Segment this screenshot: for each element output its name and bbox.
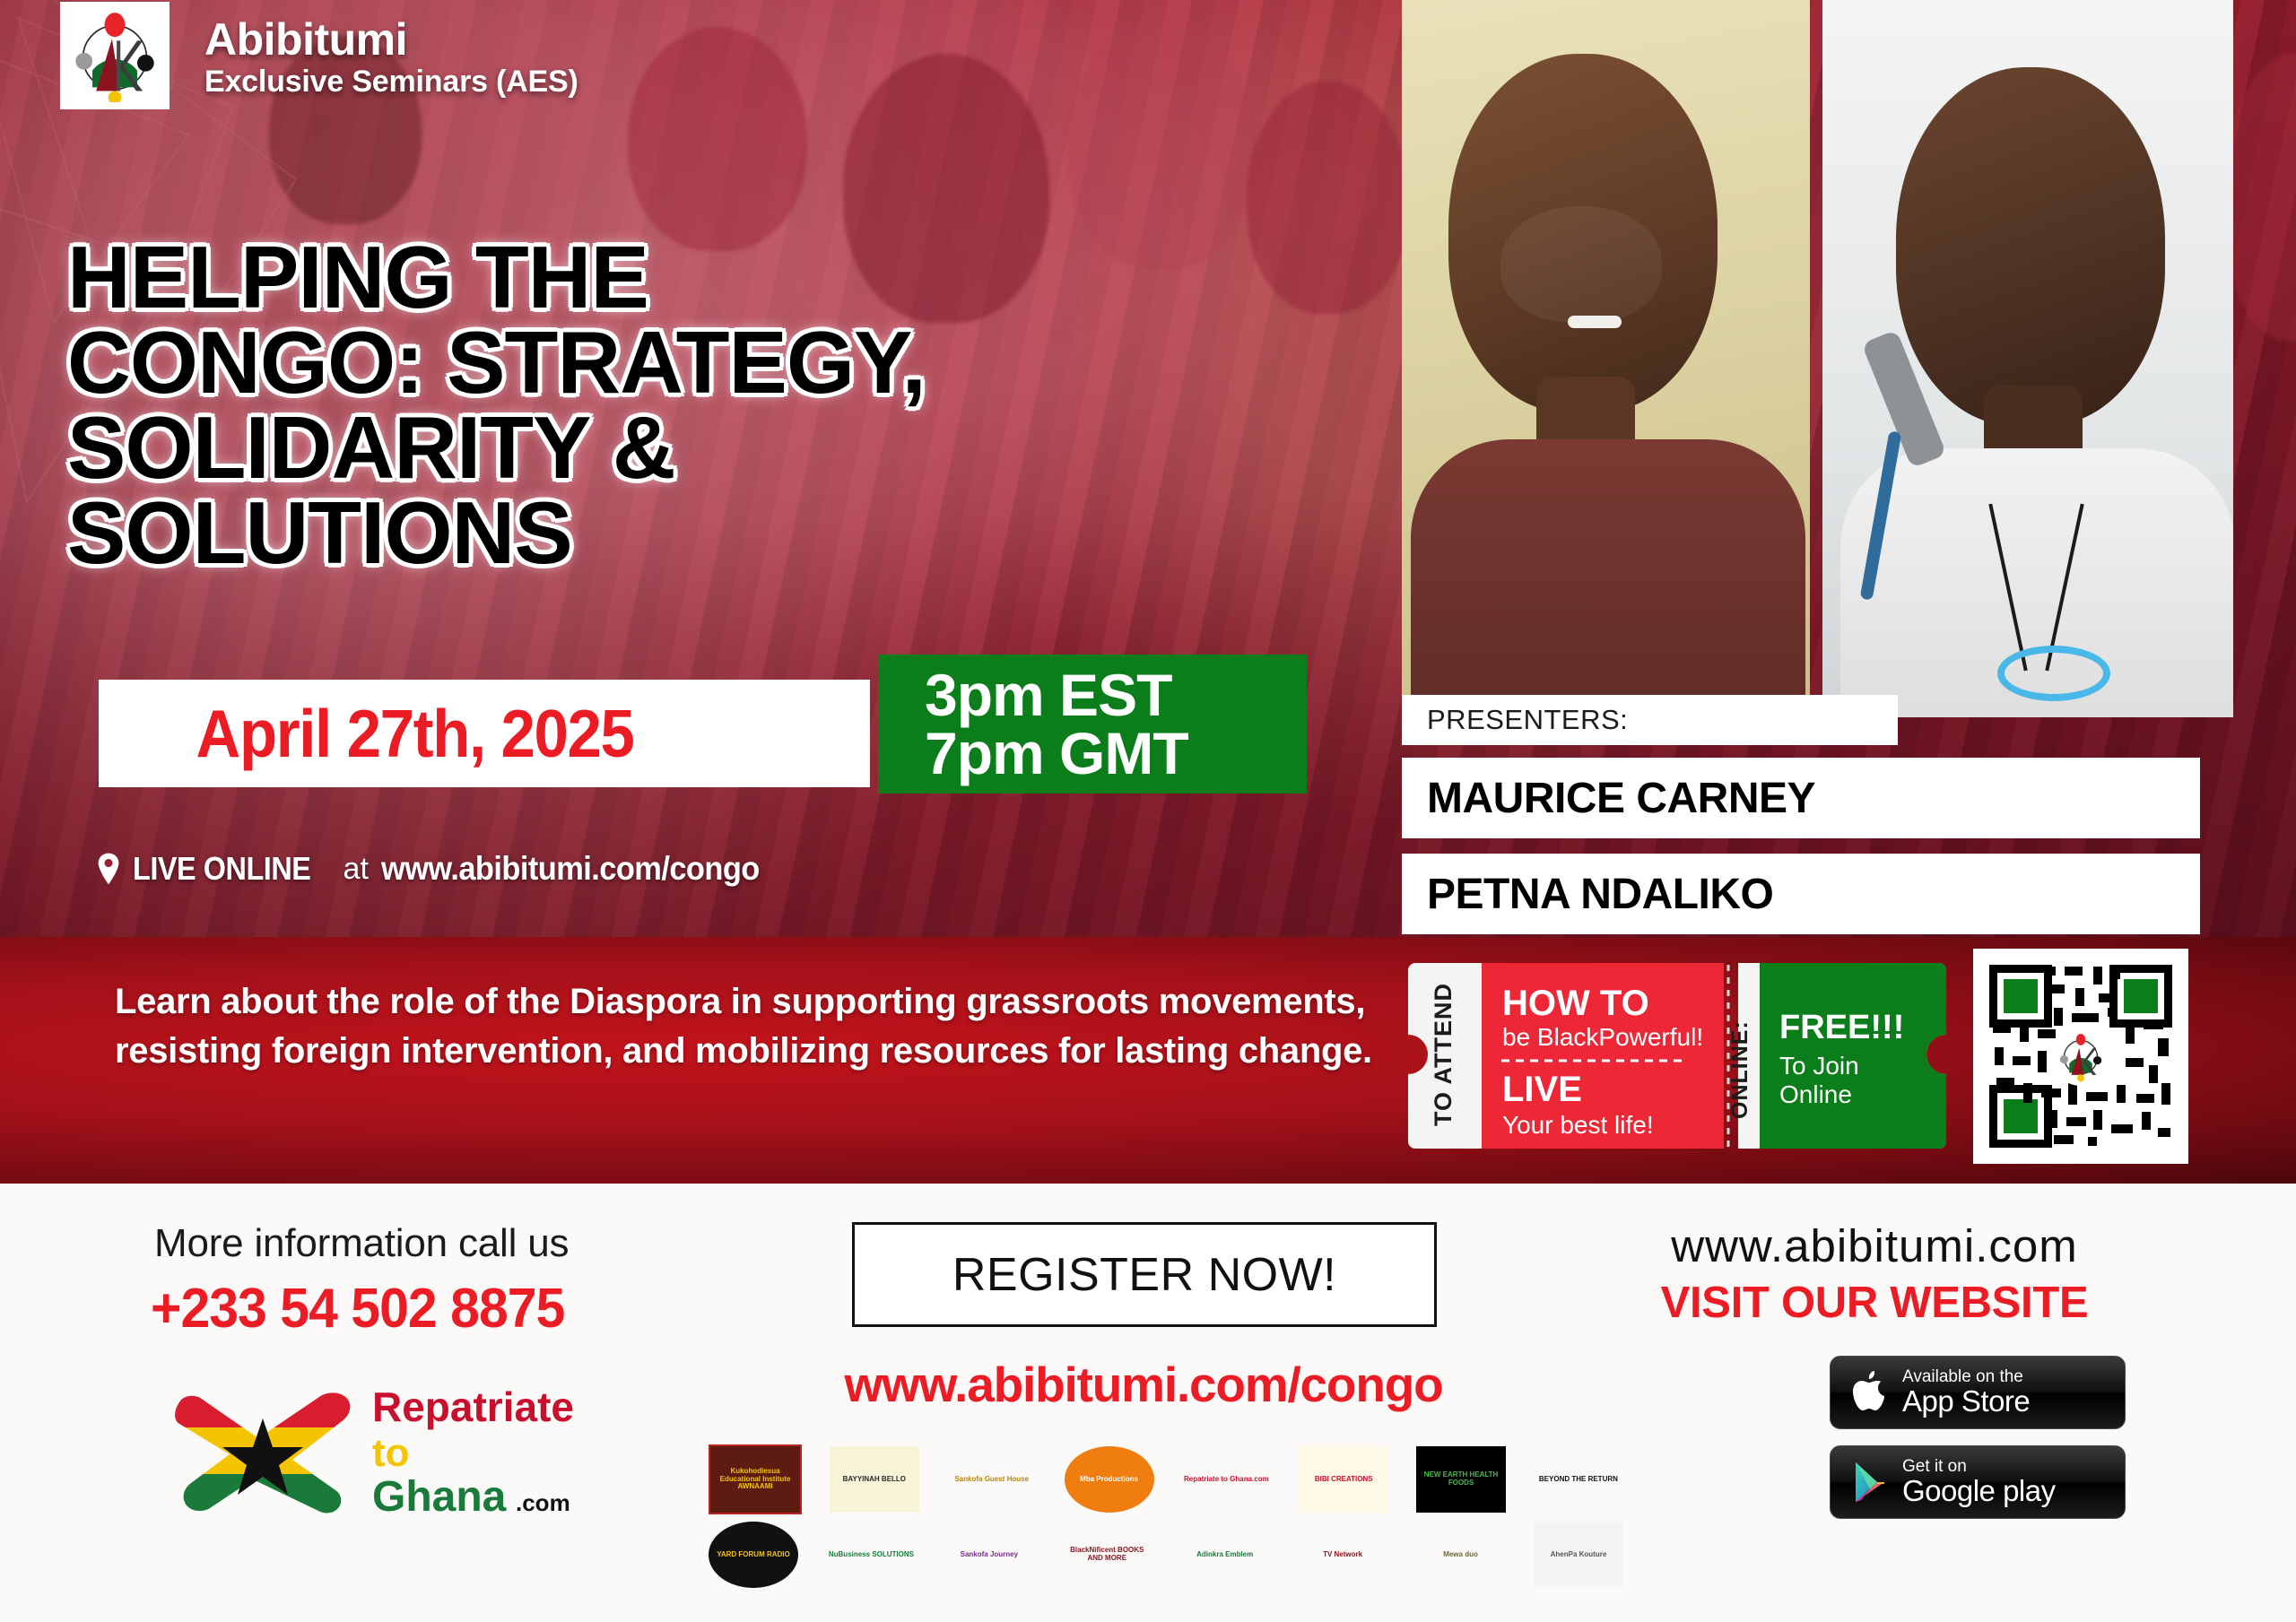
- sponsor-name: Sankofa Guest House: [954, 1476, 1029, 1484]
- qr-code-block[interactable]: [1973, 949, 2188, 1164]
- event-time-est: 3pm EST: [925, 666, 1307, 724]
- sponsor-row: YARD FORUM RADIO NuBusiness SOLUTIONS Sa…: [709, 1517, 1623, 1592]
- sponsor-logo-grid: Kukohodiesua Educational Institute AWNAA…: [709, 1442, 1623, 1592]
- sponsor-name: NuBusiness SOLUTIONS: [829, 1551, 914, 1559]
- svg-text:.com: .com: [516, 1489, 570, 1516]
- sponsor-name: Mewa duo: [1443, 1551, 1478, 1559]
- app-store-badge-big: App Store: [1902, 1386, 2030, 1418]
- svg-text:TO ATTEND: TO ATTEND: [1430, 983, 1457, 1126]
- headline-line-4: SOLUTIONS: [67, 490, 1251, 576]
- qr-center-logo: [2051, 1027, 2110, 1086]
- qr-eye: [1989, 965, 2052, 1028]
- sponsor-logo: YARD FORUM RADIO: [709, 1522, 798, 1588]
- headline-line-3: SOLIDARITY &: [67, 405, 1251, 490]
- live-online-label: LIVE ONLINE: [133, 850, 310, 888]
- sponsor-name: YARD FORUM RADIO: [717, 1551, 789, 1559]
- visit-website-label: VISIT OUR WEBSITE: [1587, 1278, 2161, 1328]
- sponsor-logo: NEW EARTH HEALTH FOODS: [1416, 1446, 1506, 1513]
- presenter-name-2: PETNA NDALIKO: [1427, 870, 1773, 919]
- sponsor-row: Kukohodiesua Educational Institute AWNAA…: [709, 1442, 1623, 1517]
- presenter-photo-petna-ndaliko: [1822, 0, 2233, 717]
- svg-text:FREE!!!: FREE!!!: [1779, 1009, 1904, 1046]
- sponsor-name: Mba Productions: [1080, 1476, 1138, 1484]
- contact-label: More information call us: [154, 1221, 569, 1266]
- sponsor-name: BAYYINAH BELLO: [843, 1476, 906, 1484]
- sponsor-logo: Repatriate to Ghana.com: [1181, 1446, 1271, 1513]
- live-online-row: LIVE ONLINE at www.abibitumi.com/congo: [97, 850, 787, 888]
- svg-text:Ghana: Ghana: [372, 1473, 507, 1521]
- sponsor-name: NEW EARTH HEALTH FOODS: [1416, 1471, 1506, 1488]
- abibitumi-ak-logo-icon: [2055, 1030, 2107, 1082]
- sponsor-logo: Mewa duo: [1416, 1522, 1506, 1588]
- sponsor-logo: Kukohodiesua Educational Institute AWNAA…: [709, 1444, 802, 1514]
- abibitumi-ak-logo-icon: [68, 9, 161, 102]
- contact-phone[interactable]: +233 54 502 8875: [151, 1277, 564, 1340]
- svg-text:To Join: To Join: [1779, 1052, 1859, 1080]
- avatar: [1896, 67, 2165, 426]
- presenter-name-row: PETNA NDALIKO: [1402, 854, 2200, 934]
- sponsor-logo: BlackNificent BOOKS AND MORE: [1062, 1522, 1152, 1588]
- live-online-url[interactable]: www.abibitumi.com/congo: [381, 850, 760, 888]
- presenter-name-row: MAURICE CARNEY: [1402, 758, 2200, 838]
- sponsor-logo: TV Network: [1298, 1522, 1387, 1588]
- google-play-badge-big: Google play: [1902, 1476, 2056, 1507]
- apple-logo-icon: [1850, 1369, 1890, 1416]
- presenter-name-1: MAURICE CARNEY: [1427, 774, 1815, 823]
- glasses-graphic-icon: [1997, 646, 2110, 701]
- event-time-box: 3pm EST 7pm GMT: [878, 655, 1307, 794]
- sponsor-logo: BEYOND THE RETURN: [1534, 1446, 1623, 1513]
- ticket-graphic: TO ATTEND ONLINE: HOW TO be BlackPowerfu…: [1408, 959, 1946, 1152]
- brand-subtitle: Exclusive Seminars (AES): [204, 65, 578, 100]
- svg-text:Repatriate: Repatriate: [372, 1383, 574, 1430]
- google-play-badge[interactable]: Get it on Google play: [1830, 1445, 2126, 1519]
- presenters-label-text: PRESENTERS:: [1427, 704, 1628, 736]
- sponsor-name: BEYOND THE RETURN: [1539, 1476, 1618, 1484]
- svg-text:Online: Online: [1779, 1080, 1852, 1108]
- sponsor-name: BlackNificent BOOKS AND MORE: [1062, 1547, 1152, 1563]
- sponsor-logo: BIBI CREATIONS: [1299, 1446, 1388, 1513]
- svg-text:ONLINE:: ONLINE:: [1727, 1020, 1752, 1119]
- svg-text:Your best life!: Your best life!: [1502, 1111, 1654, 1139]
- how-to-attend-ticket: TO ATTEND ONLINE: HOW TO be BlackPowerfu…: [1408, 959, 1946, 1152]
- sponsor-logo: Mba Productions: [1065, 1446, 1154, 1513]
- live-at-word: at: [344, 852, 369, 887]
- sponsor-logo: Sankofa Guest House: [947, 1446, 1037, 1513]
- register-now-button[interactable]: REGISTER NOW!: [852, 1222, 1437, 1327]
- svg-text:be BlackPowerful!: be BlackPowerful!: [1502, 1023, 1703, 1051]
- brand-logo-tile: [60, 2, 170, 109]
- sponsor-name: AhenPa Kouture: [1551, 1551, 1607, 1559]
- event-date-banner: April 27th, 2025: [99, 680, 870, 787]
- sponsor-logo: Sankofa Journey: [944, 1522, 1034, 1588]
- app-store-badge[interactable]: Available on the App Store: [1830, 1356, 2126, 1429]
- sponsor-logo: AhenPa Kouture: [1534, 1522, 1623, 1588]
- brand-block: Abibitumi Exclusive Seminars (AES): [204, 16, 578, 100]
- google-play-badge-small: Get it on: [1902, 1458, 2056, 1476]
- presenters-label: PRESENTERS:: [1402, 695, 1898, 745]
- location-pin-icon: [97, 852, 120, 886]
- website-url[interactable]: www.abibitumi.com: [1587, 1219, 2161, 1272]
- presenter-photo-maurice-carney: [1402, 0, 1810, 717]
- headline-line-1: HELPING THE: [67, 235, 1251, 320]
- sponsor-name: TV Network: [1323, 1551, 1362, 1559]
- headline-line-2: CONGO: STRATEGY,: [67, 320, 1251, 405]
- svg-text:to: to: [372, 1431, 410, 1475]
- event-time-gmt: 7pm GMT: [925, 724, 1307, 783]
- svg-text:LIVE: LIVE: [1502, 1070, 1582, 1109]
- repatriate-to-ghana-logo-icon: Repatriate to Ghana .com: [143, 1372, 610, 1542]
- sponsor-name: Adinkra Emblem: [1196, 1551, 1253, 1559]
- svg-text:HOW TO: HOW TO: [1502, 984, 1649, 1023]
- sponsor-name: Kukohodiesua Educational Institute AWNAA…: [710, 1468, 800, 1491]
- sponsor-name: Repatriate to Ghana.com: [1184, 1476, 1269, 1484]
- sponsor-name: BIBI CREATIONS: [1315, 1476, 1373, 1484]
- event-description: Learn about the role of the Diaspora in …: [115, 977, 1388, 1076]
- flyer-root: Abibitumi Exclusive Seminars (AES) HELPI…: [0, 0, 2296, 1622]
- app-store-badge-small: Available on the: [1902, 1368, 2030, 1386]
- event-date: April 27th, 2025: [99, 695, 634, 772]
- google-play-icon: [1850, 1460, 1890, 1505]
- sponsor-logo: Adinkra Emblem: [1180, 1522, 1270, 1588]
- sponsor-logo: BAYYINAH BELLO: [830, 1446, 919, 1513]
- register-url[interactable]: www.abibitumi.com/congo: [771, 1356, 1516, 1413]
- sponsor-logo: NuBusiness SOLUTIONS: [826, 1522, 916, 1588]
- register-now-label: REGISTER NOW!: [952, 1248, 1336, 1302]
- brand-name: Abibitumi: [204, 16, 578, 63]
- avatar-smile: [1568, 316, 1622, 328]
- page-title: HELPING THE CONGO: STRATEGY, SOLIDARITY …: [67, 235, 1251, 576]
- hero-section: Abibitumi Exclusive Seminars (AES) HELPI…: [0, 0, 2296, 937]
- sponsor-name: Sankofa Journey: [961, 1551, 1018, 1559]
- avatar-highlight: [1500, 206, 1662, 323]
- qr-code-icon: [1982, 958, 2179, 1155]
- avatar-shirt: [1411, 439, 1805, 717]
